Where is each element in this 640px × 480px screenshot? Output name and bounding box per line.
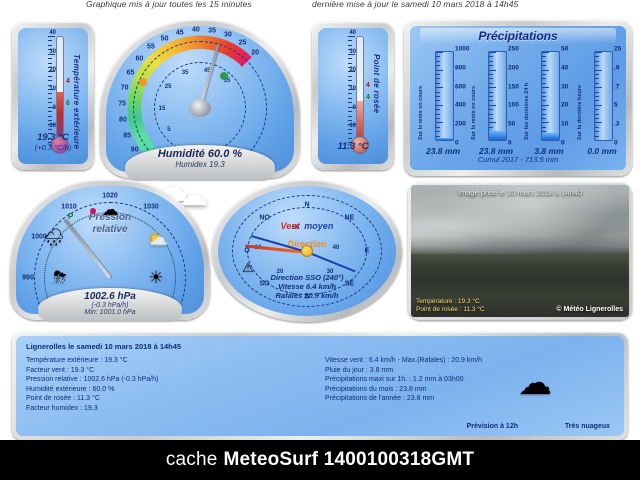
precipitation-scale-label: 600 bbox=[455, 83, 466, 90]
precipitation-tick bbox=[436, 105, 443, 106]
summary-face: Lignerolles le samedi 10 mars 2018 à 14h… bbox=[16, 336, 624, 436]
thermometer-tick bbox=[348, 116, 352, 117]
humidity-max-marker bbox=[139, 78, 147, 86]
humidity-value: Humidité 60.0 % bbox=[125, 148, 275, 160]
precipitation-tick bbox=[489, 114, 493, 115]
precipitation-tick bbox=[542, 61, 546, 62]
precipitation-tick bbox=[595, 136, 599, 137]
precipitation-title: Précipitations bbox=[410, 29, 626, 43]
thermometer-tick bbox=[348, 67, 352, 68]
precipitation-tick bbox=[542, 74, 546, 75]
pressure-tick-label: 1020 bbox=[102, 193, 118, 200]
thermometer-tick bbox=[348, 120, 352, 121]
precipitation-tick bbox=[436, 114, 440, 115]
precipitation-tick bbox=[436, 92, 440, 93]
thermometer-tick bbox=[348, 40, 352, 41]
humidity-tick-label: 75 bbox=[118, 100, 126, 107]
thermometer-tick bbox=[348, 133, 352, 134]
precipitation-tick bbox=[542, 96, 546, 97]
precipitation-scale-label: 250 bbox=[508, 46, 519, 53]
precipitation-fill bbox=[542, 133, 559, 140]
thermometer-tick bbox=[48, 40, 52, 41]
thermometer-tick bbox=[348, 93, 352, 94]
forecast-area: ☁ Prévision à 12h Très nuageux bbox=[434, 362, 614, 432]
precipitation-tick bbox=[436, 140, 443, 141]
precipitation-tick bbox=[436, 127, 440, 128]
precipitation-tick bbox=[436, 118, 440, 119]
thermometer-ticks bbox=[48, 36, 56, 142]
precipitation-scale-label: 50 bbox=[508, 121, 515, 128]
graph-update-note: Graphique mis à jour toutes les 15 minut… bbox=[86, 0, 252, 11]
precipitation-column-label: Sur le mois en cours bbox=[471, 54, 485, 140]
summary-line: Facteur vent : 19.3 °C bbox=[26, 366, 315, 376]
precipitation-tick bbox=[542, 87, 549, 88]
thermometer-tick bbox=[48, 120, 52, 121]
precipitation-tick bbox=[436, 136, 440, 137]
precipitation-scale-label: 40 bbox=[561, 64, 568, 71]
footer-value: MeteoSurf 1400100318GMT bbox=[224, 449, 475, 471]
precipitation-column-label: Sur la dernière heure bbox=[577, 54, 591, 140]
thermometer-tick bbox=[48, 71, 55, 72]
humidity-tick-label: 40 bbox=[192, 27, 200, 34]
thermometer-tick bbox=[348, 85, 352, 86]
wind-compass-label: NO bbox=[259, 215, 270, 222]
humidity-tick-label: 35 bbox=[208, 27, 216, 34]
footer-prefix: cache bbox=[166, 449, 218, 471]
wind-speed-value: Vitesse 6.4 km/h bbox=[270, 282, 343, 291]
precipitation-column-label: Sur les dernières 24 h bbox=[524, 54, 538, 140]
webcam-temperature: Température : 19.3 °C bbox=[416, 298, 485, 306]
precipitation-fill bbox=[436, 138, 453, 140]
cloudy-forecast-icon: ☁ bbox=[518, 366, 552, 400]
humidity-tick-label: 65 bbox=[127, 69, 135, 76]
precipitation-tick bbox=[542, 70, 549, 71]
precipitation-scale: 250200150100500 bbox=[508, 49, 525, 143]
precipitation-tick bbox=[489, 87, 496, 88]
thermometer-tick bbox=[348, 36, 355, 37]
precipitation-tick bbox=[436, 52, 443, 53]
precipitation-tick bbox=[436, 56, 440, 57]
rain-weather-icon: 🌧 bbox=[43, 228, 65, 248]
thermometer-title: Point de rosée bbox=[372, 54, 381, 113]
precipitation-tick bbox=[542, 109, 546, 110]
humidity-tick-label: 20 bbox=[251, 49, 259, 56]
precipitation-tick bbox=[489, 109, 493, 110]
precipitation-tick bbox=[489, 61, 493, 62]
thermometer-tick bbox=[48, 76, 52, 77]
precipitation-scale-label: .3 bbox=[614, 121, 619, 128]
precipitation-tick bbox=[595, 131, 599, 132]
humidity-tick-label: 50 bbox=[161, 35, 169, 42]
summary-left-column: Température extérieure : 19.3 °CFacteur … bbox=[26, 356, 315, 414]
precipitation-tick bbox=[436, 74, 440, 75]
precipitation-scale: 10008006004002000 bbox=[455, 49, 472, 143]
weather-dashboard: Graphique mis à jour toutes les 15 minut… bbox=[0, 0, 640, 480]
precipitation-scale: 50403020100 bbox=[561, 49, 578, 143]
pressure-readout-plate: 1002.6 hPa (-0.3 hPa/h) Min: 1001.0 hPa bbox=[38, 288, 182, 322]
thermometer-tick bbox=[48, 116, 52, 117]
precipitation-tick bbox=[542, 92, 546, 93]
thermometer-tick bbox=[48, 58, 52, 59]
pressure-min-marker: P bbox=[68, 212, 73, 221]
precipitation-tick bbox=[489, 127, 493, 128]
summary-line: Facteur humidex : 19.3 bbox=[26, 404, 315, 414]
sunny-weather-icon: ☀ bbox=[148, 268, 163, 288]
precipitation-tick bbox=[542, 56, 546, 57]
partly-sunny-icon: ⛅ bbox=[147, 230, 168, 250]
precipitation-tick bbox=[542, 83, 546, 84]
wind-gauge[interactable]: NNEESESSOONO 1020304050 Vent moyen Direc… bbox=[212, 180, 402, 322]
webcam-panel[interactable]: Image prise le 10 mars 2018 à 14h40 Temp… bbox=[408, 182, 632, 320]
thermometer-tick bbox=[48, 124, 55, 125]
precipitation-tick bbox=[595, 56, 599, 57]
thermometer-tick bbox=[48, 85, 52, 86]
wind-title-wind: Vent bbox=[281, 221, 300, 231]
precipitation-scale-label: 200 bbox=[508, 64, 519, 71]
precipitation-column[interactable]: Sur le mois en cours25020015010050023.8 … bbox=[471, 46, 525, 170]
pressure-minmax: Min: 1001.0 hPa bbox=[38, 309, 182, 316]
thermometer-tick bbox=[48, 63, 52, 64]
humidity-tick-label: 45 bbox=[176, 29, 184, 36]
precipitation-tick bbox=[436, 70, 443, 71]
precipitation-tick bbox=[489, 65, 493, 66]
precipitation-tick bbox=[436, 122, 443, 123]
wind-title-mean: moyen bbox=[304, 221, 333, 231]
thermometer-face: Température extérieure 403020100-10-20 4… bbox=[18, 28, 88, 164]
precipitation-tick bbox=[489, 100, 493, 101]
thermometer-tick bbox=[348, 89, 355, 90]
wind-face: NNEESESSOONO 1020304050 Vent moyen Direc… bbox=[218, 186, 396, 316]
precipitation-tick bbox=[436, 78, 440, 79]
precipitation-tick bbox=[489, 56, 493, 57]
thermometer-min-marker: 4 bbox=[366, 94, 370, 101]
precipitation-tick bbox=[595, 52, 602, 53]
thermometer-tick bbox=[348, 71, 355, 72]
precipitation-tick bbox=[489, 118, 493, 119]
precipitation-scale-label: .7 bbox=[614, 83, 619, 90]
thermometer-tick bbox=[48, 45, 52, 46]
pressure-rate: (-0.3 hPa/h) bbox=[38, 302, 182, 309]
humidity-tick-label: 30 bbox=[224, 32, 232, 39]
thermometer-tick bbox=[48, 49, 52, 50]
summary-line: Température extérieure : 19.3 °C bbox=[26, 356, 315, 366]
precipitation-tick bbox=[595, 118, 599, 119]
thermometer-tube bbox=[356, 36, 364, 142]
thermometer-tick bbox=[348, 76, 352, 77]
precipitation-tick bbox=[595, 78, 599, 79]
precipitation-scale-label: 800 bbox=[455, 64, 466, 71]
thermometer-tick bbox=[348, 124, 355, 125]
precipitation-tick bbox=[595, 100, 599, 101]
thermometer-tick bbox=[48, 107, 55, 108]
thermometer-tick bbox=[348, 63, 352, 64]
precipitation-tick bbox=[595, 83, 599, 84]
precipitation-tick bbox=[542, 118, 546, 119]
precipitation-tube bbox=[541, 51, 560, 141]
precipitation-tick bbox=[595, 87, 602, 88]
precipitation-tube bbox=[435, 51, 454, 141]
thermometer-tick bbox=[348, 102, 352, 103]
thermometer-tick bbox=[48, 54, 55, 55]
precipitation-scale-label: 400 bbox=[455, 102, 466, 109]
thermometer-tick bbox=[48, 80, 52, 81]
precipitation-tick bbox=[436, 61, 440, 62]
footer-bar: cache MeteoSurf 1400100318GMT bbox=[0, 440, 640, 480]
thermometer-tick bbox=[348, 58, 352, 59]
precipitation-tick bbox=[595, 140, 602, 141]
wind-scale-label: 40 bbox=[333, 245, 340, 251]
summary-line: Pression relative : 1002.6 hPa (-0.3 hPa… bbox=[26, 375, 315, 385]
precipitation-tick bbox=[595, 114, 599, 115]
precipitation-column[interactable]: Sur la dernière heure25.9.75.300.0 mm bbox=[577, 46, 626, 170]
precipitation-tick bbox=[489, 74, 493, 75]
humidity-min-marker bbox=[220, 72, 228, 80]
summary-line: Humidité extérieure : 60.0 % bbox=[26, 385, 315, 395]
precipitation-tick bbox=[595, 127, 599, 128]
humidity-inner-tick-label: 35 bbox=[182, 70, 189, 76]
storm-weather-icon: ⛈ bbox=[53, 268, 67, 288]
precipitation-tick bbox=[489, 52, 496, 53]
precipitation-column-label: Sur le mois en cours bbox=[418, 54, 432, 140]
precipitation-tick bbox=[542, 122, 549, 123]
wind-compass-label: N bbox=[304, 202, 309, 209]
precipitation-tick bbox=[436, 100, 440, 101]
thermometer-tick bbox=[48, 102, 52, 103]
humidity-inner-tick-label: 25 bbox=[165, 84, 172, 90]
precipitation-face: Précipitations Sur le mois en cours10008… bbox=[410, 26, 626, 170]
thermometer-tick bbox=[48, 93, 52, 94]
outdoor-temperature-thermometer[interactable]: Température extérieure 403020100-10-20 4… bbox=[12, 22, 94, 170]
wind-compass-label: NE bbox=[345, 215, 355, 222]
webcam-image: Image prise le 10 mars 2018 à 14h40 Temp… bbox=[411, 185, 629, 317]
wind-hub bbox=[301, 245, 313, 257]
thermometer-tick bbox=[48, 129, 52, 130]
pressure-max-marker bbox=[90, 208, 96, 214]
webcam-credit: © Météo Lignerolles bbox=[556, 306, 623, 313]
dewpoint-thermometer[interactable]: Point de rosée 403020100-10-20 4 4 11.3 … bbox=[312, 22, 394, 170]
thermometer-tick bbox=[348, 111, 352, 112]
precipitation-scale-label: .9 bbox=[614, 64, 619, 71]
thermometer-tick bbox=[348, 107, 355, 108]
summary-line: Point de rosée : 11.3 °C bbox=[26, 394, 315, 404]
precipitation-tick bbox=[542, 65, 546, 66]
humidity-tick-label: 25 bbox=[239, 39, 247, 46]
humidity-tick-label: 85 bbox=[123, 132, 131, 139]
precipitation-scale-label: 20 bbox=[561, 102, 568, 109]
precipitation-tick bbox=[595, 109, 599, 110]
precipitation-tick bbox=[489, 83, 493, 84]
thermometer-tick bbox=[348, 54, 355, 55]
precipitation-column[interactable]: Sur les dernières 24 h504030201003.8 mm bbox=[524, 46, 578, 170]
precipitation-tick bbox=[595, 122, 602, 123]
thermometer-ticks bbox=[348, 36, 356, 142]
precipitation-scale-label: 150 bbox=[508, 83, 519, 90]
precipitation-tick bbox=[436, 131, 440, 132]
outdoor-temperature-value: 19.3 °C (+0.3 °C/h) bbox=[18, 132, 88, 152]
precipitation-tick bbox=[542, 100, 546, 101]
precipitation-column[interactable]: Sur le mois en cours1000800600400200023.… bbox=[418, 46, 472, 170]
wind-compass-label: SO bbox=[260, 280, 270, 287]
last-update-note: dernière mise à jour le samedi 10 mars 2… bbox=[312, 0, 518, 11]
thermometer-face: Point de rosée 403020100-10-20 4 4 11.3 … bbox=[318, 28, 388, 164]
precipitation-tick bbox=[436, 109, 440, 110]
thermometer-tick bbox=[348, 80, 352, 81]
precipitation-tick bbox=[489, 70, 496, 71]
precipitation-tube bbox=[594, 51, 613, 141]
humidity-inner-tick-label: 5 bbox=[167, 127, 170, 133]
precipitation-tick bbox=[542, 114, 546, 115]
thermometer-tick bbox=[348, 45, 352, 46]
precipitation-tick bbox=[542, 52, 549, 53]
precipitation-scale-label: 30 bbox=[561, 83, 568, 90]
precipitation-scale-label: 50 bbox=[561, 46, 568, 53]
summary-panel[interactable]: Lignerolles le samedi 10 mars 2018 à 14h… bbox=[12, 332, 628, 440]
precipitation-tick bbox=[595, 105, 602, 106]
thermometer-tick bbox=[48, 111, 52, 112]
pressure-tick-label: 1030 bbox=[143, 203, 159, 210]
humidity-inner-tick-label: 15 bbox=[159, 106, 166, 112]
humidity-tick-label: 70 bbox=[121, 84, 129, 91]
precipitation-tick bbox=[489, 78, 493, 79]
humidity-tick-label: 60 bbox=[135, 55, 143, 62]
webcam-dewpoint: Point de rosée : 11.3 °C bbox=[416, 306, 485, 314]
thermometer-tube bbox=[56, 36, 64, 142]
precipitation-scale-label: 5 bbox=[614, 102, 618, 109]
webcam-overlay-readings: Température : 19.3 °C Point de rosée : 1… bbox=[416, 298, 485, 314]
precipitation-tick bbox=[436, 65, 440, 66]
precipitation-tube bbox=[488, 51, 507, 141]
precipitation-tick bbox=[542, 105, 549, 106]
precipitation-tick bbox=[595, 70, 602, 71]
precipitation-tick bbox=[489, 105, 496, 106]
precipitation-tick bbox=[595, 92, 599, 93]
thermometer-tick bbox=[48, 67, 52, 68]
wind-warning-icon: ⚠ bbox=[242, 260, 254, 276]
pressure-title: Pression relative bbox=[89, 212, 131, 236]
humidity-tick-label: 55 bbox=[147, 44, 155, 51]
thermometer-tick bbox=[348, 138, 352, 139]
thermometer-tick bbox=[48, 36, 55, 37]
thermometer-min-marker: 6 bbox=[66, 100, 70, 107]
precipitation-tick bbox=[436, 83, 440, 84]
precipitation-tick bbox=[436, 87, 443, 88]
forecast-label: Prévision à 12h bbox=[467, 423, 518, 430]
precipitation-scale: 25.9.75.30 bbox=[614, 49, 626, 143]
wind-compass-label: E bbox=[365, 248, 370, 255]
precipitation-tick bbox=[595, 74, 599, 75]
pressure-tick-label: 1010 bbox=[61, 203, 77, 210]
precipitation-tick bbox=[489, 96, 493, 97]
wind-compass-label: O bbox=[244, 248, 249, 255]
precipitation-cumul: Cumul 2017 - 713.5 mm bbox=[410, 155, 626, 164]
precipitation-tick bbox=[542, 78, 546, 79]
precipitation-scale-label: 100 bbox=[508, 102, 519, 109]
precipitation-tick bbox=[595, 96, 599, 97]
wind-compass-label: SE bbox=[345, 280, 354, 287]
thermometer-tick bbox=[48, 89, 55, 90]
humidity-hub bbox=[189, 99, 211, 117]
summary-heading: Lignerolles le samedi 10 mars 2018 à 14h… bbox=[26, 342, 614, 351]
humidity-tick-label: 80 bbox=[119, 117, 127, 124]
precipitation-tick bbox=[489, 92, 493, 93]
precipitation-tick bbox=[542, 127, 546, 128]
thermometer-max-marker: 4 bbox=[66, 78, 70, 85]
dewpoint-value: 11.3 °C bbox=[318, 141, 388, 152]
precipitation-tick bbox=[436, 96, 440, 97]
precipitation-tick bbox=[595, 65, 599, 66]
pressure-value: 1002.6 hPa bbox=[38, 291, 182, 302]
wind-readout: Direction SSO (240°) Vitesse 6.4 km/h Ra… bbox=[270, 273, 343, 300]
precipitation-scale-label: 10 bbox=[561, 121, 568, 128]
thermometer-tick bbox=[348, 129, 352, 130]
precipitation-panel[interactable]: Précipitations Sur le mois en cours10008… bbox=[404, 20, 632, 176]
thermometer-max-marker: 4 bbox=[366, 82, 370, 89]
humidity-gauge[interactable]: 9590858075706560555045403530252051525354… bbox=[100, 20, 300, 178]
wind-gust-value: Rafales 20.9 km/h bbox=[270, 291, 343, 300]
precipitation-tick bbox=[595, 61, 599, 62]
precipitation-fill bbox=[489, 131, 506, 140]
precipitation-tick bbox=[489, 122, 496, 123]
thermometer-tick bbox=[348, 49, 352, 50]
forecast-value: Très nuageux bbox=[565, 423, 610, 430]
wind-direction-value: Direction SSO (240°) bbox=[270, 273, 343, 282]
thermometer-tick bbox=[48, 98, 52, 99]
precipitation-tick bbox=[542, 140, 549, 141]
pressure-tick-label: 990 bbox=[22, 275, 34, 282]
precipitation-scale-label: 25 bbox=[614, 46, 621, 53]
humidex-value: Humidex 19.3 bbox=[125, 160, 275, 169]
webcam-timestamp: Image prise le 10 mars 2018 à 14h40 bbox=[411, 188, 629, 197]
precipitation-scale-label: 1000 bbox=[455, 46, 469, 53]
thermometer-tick bbox=[348, 98, 352, 99]
precipitation-scale-label: 200 bbox=[455, 121, 466, 128]
precipitation-tick bbox=[489, 140, 496, 141]
